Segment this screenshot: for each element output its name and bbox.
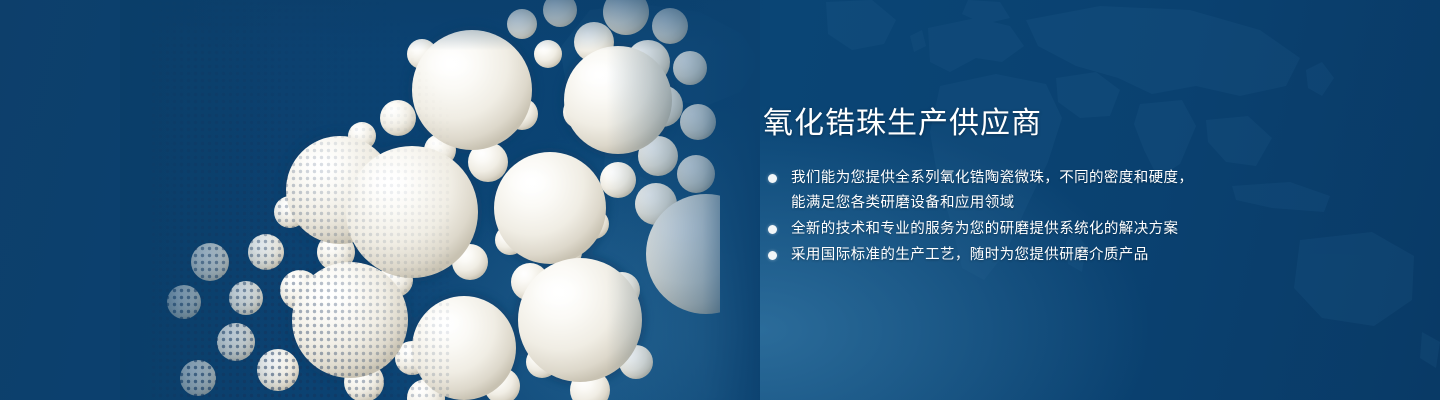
banner-content: 氧化锆珠生产供应商 我们能为您提供全系列氧化锆陶瓷微珠，不同的密度和硬度， 能满… — [763, 105, 1383, 269]
list-item-line: 能满足您各类研磨设备和应用领域 — [791, 191, 1383, 216]
bullet-dot-icon — [768, 174, 777, 183]
list-item-line: 采用国际标准的生产工艺，随时为您提供研磨介质产品 — [791, 243, 1383, 268]
list-item: 全新的技术和专业的服务为您的研磨提供系统化的解决方案 — [763, 217, 1383, 242]
list-item: 采用国际标准的生产工艺，随时为您提供研磨介质产品 — [763, 243, 1383, 268]
feature-list: 我们能为您提供全系列氧化锆陶瓷微珠，不同的密度和硬度， 能满足您各类研磨设备和应… — [763, 166, 1383, 268]
bullet-dot-icon — [768, 251, 777, 260]
list-item-line: 全新的技术和专业的服务为您的研磨提供系统化的解决方案 — [791, 217, 1383, 242]
bullet-dot-icon — [768, 225, 777, 234]
list-item-line: 我们能为您提供全系列氧化锆陶瓷微珠，不同的密度和硬度， — [791, 166, 1383, 191]
page-title: 氧化锆珠生产供应商 — [763, 105, 1383, 143]
promo-banner: 氧化锆珠生产供应商 我们能为您提供全系列氧化锆陶瓷微珠，不同的密度和硬度， 能满… — [0, 0, 1440, 400]
zirconia-beads-image — [150, 0, 720, 400]
list-item: 我们能为您提供全系列氧化锆陶瓷微珠，不同的密度和硬度， 能满足您各类研磨设备和应… — [763, 166, 1383, 216]
